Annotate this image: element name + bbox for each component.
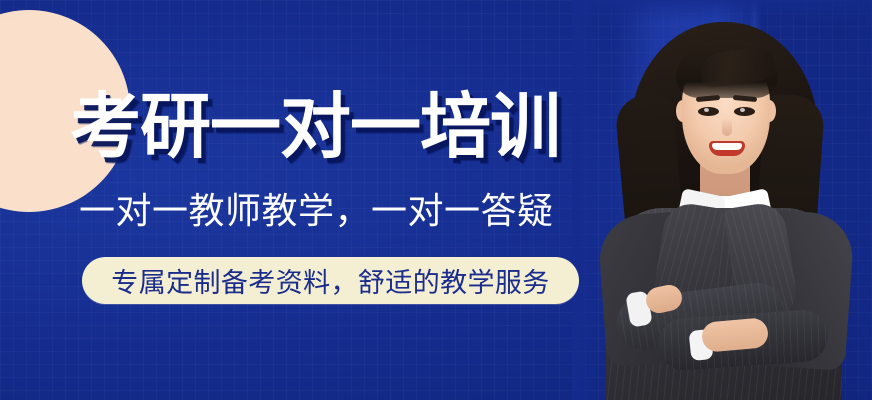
banner-subtitle: 一对一教师教学，一对一答疑: [79, 192, 554, 231]
promo-banner: 考研一对一培训 一对一教师教学，一对一答疑 专属定制备考资料，舒适的教学服务: [0, 0, 872, 400]
banner-badge-pill: 专属定制备考资料，舒适的教学服务: [82, 257, 579, 304]
eye-highlight-right: [740, 108, 745, 112]
nose: [722, 118, 732, 136]
eye-highlight-left: [704, 108, 709, 112]
portrait-top-blend: [572, 0, 872, 22]
portrait-photo: [572, 0, 872, 400]
banner-headline: 考研一对一培训: [70, 92, 560, 163]
banner-badge-text: 专属定制备考资料，舒适的教学服务: [111, 261, 549, 300]
teeth: [712, 143, 742, 150]
